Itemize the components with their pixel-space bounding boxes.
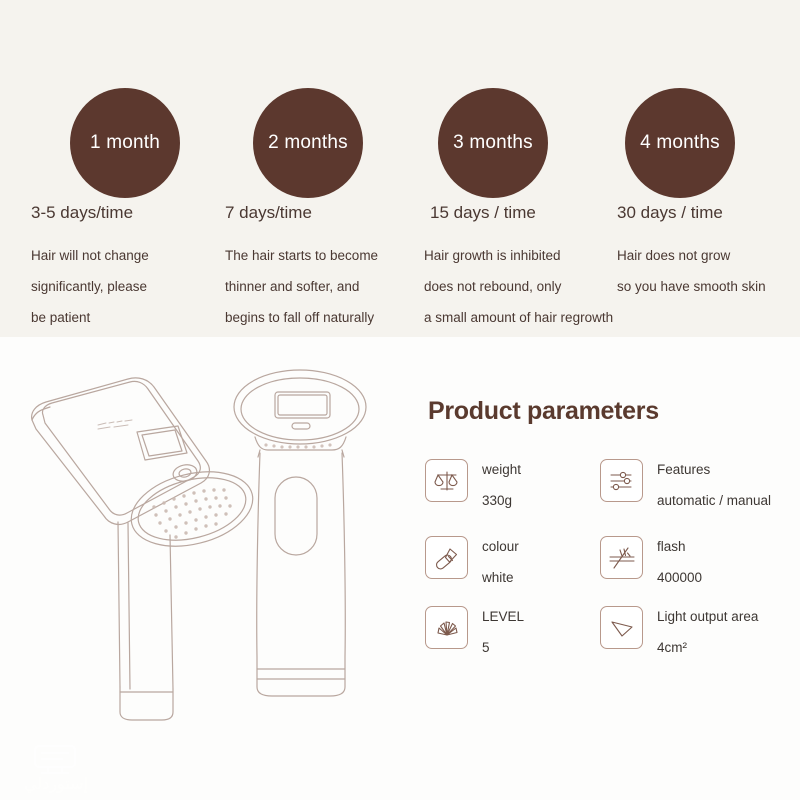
timeline-desc-line: begins to fall off naturally — [225, 302, 378, 333]
ipl-device-front-view — [234, 370, 366, 696]
parameter-label: LEVEL — [482, 607, 524, 626]
parameter-flash: flash 400000 — [600, 536, 702, 587]
parameter-value: 400000 — [657, 568, 702, 587]
balance-scale-icon — [425, 459, 468, 502]
paint-roller-icon — [425, 536, 468, 579]
parameter-value: 5 — [482, 638, 524, 657]
parameter-label: weight — [482, 460, 521, 479]
infographic-page: 1 month 3-5 days/time Hair will not chan… — [0, 0, 800, 800]
timeline-badge-label: 2 months — [268, 132, 348, 154]
parameter-light-output-area: Light output area 4cm² — [600, 606, 758, 657]
timeline-desc-line: thinner and softer, and — [225, 271, 378, 302]
parameter-text: weight 330g — [482, 459, 521, 510]
timeline-desc-line: Hair will not change — [31, 240, 149, 271]
timeline-step-4: 4 months 30 days / time Hair does not gr… — [600, 0, 800, 337]
fan-level-icon — [425, 606, 468, 649]
timeline-desc-line: Hair does not grow — [617, 240, 766, 271]
product-parameters-title: Product parameters — [428, 397, 659, 426]
timeline-desc-line: Hair growth is inhibited — [424, 240, 613, 271]
parameter-value: automatic / manual — [657, 491, 771, 510]
timeline-frequency-3: 15 days / time — [430, 203, 536, 223]
timeline-badge-label: 4 months — [640, 132, 720, 154]
timeline-columns: 1 month 3-5 days/time Hair will not chan… — [0, 0, 800, 337]
timeline-desc-line: significantly, please — [31, 271, 149, 302]
treatment-timeline-section: 1 month 3-5 days/time Hair will not chan… — [0, 0, 800, 337]
timeline-description-3: Hair growth is inhibited does not reboun… — [424, 240, 613, 333]
parameter-colour: colour white — [425, 536, 519, 587]
timeline-description-4: Hair does not grow so you have smooth sk… — [617, 240, 766, 302]
timeline-desc-line: so you have smooth skin — [617, 271, 766, 302]
parameter-text: Light output area 4cm² — [657, 606, 758, 657]
parameter-value: 330g — [482, 491, 521, 510]
timeline-step-3: 3 months 15 days / time Hair growth is i… — [400, 0, 605, 337]
parameter-label: flash — [657, 537, 702, 556]
product-illustration-group — [10, 357, 410, 777]
parameter-text: Features automatic / manual — [657, 459, 771, 510]
light-cone-icon — [600, 606, 643, 649]
parameter-label: colour — [482, 537, 519, 556]
timeline-desc-line: does not rebound, only — [424, 271, 613, 302]
site-watermark: إستوردلي — [8, 742, 104, 794]
timeline-desc-line: The hair starts to become — [225, 240, 378, 271]
timeline-badge-4-months: 4 months — [625, 88, 735, 198]
sliders-icon — [600, 459, 643, 502]
watermark-text: إستوردلي — [24, 774, 88, 794]
parameter-features: Features automatic / manual — [600, 459, 771, 510]
parameter-text: flash 400000 — [657, 536, 702, 587]
ipl-device-angled-view — [32, 378, 261, 720]
timeline-desc-line: a small amount of hair regrowth — [424, 302, 613, 333]
timeline-step-1: 1 month 3-5 days/time Hair will not chan… — [12, 0, 207, 337]
timeline-description-2: The hair starts to become thinner and so… — [225, 240, 378, 333]
timeline-badge-1-month: 1 month — [70, 88, 180, 198]
parameter-value: white — [482, 568, 519, 587]
parameter-label: Features — [657, 460, 771, 479]
timeline-frequency-2: 7 days/time — [225, 203, 312, 223]
parameter-level: LEVEL 5 — [425, 606, 524, 657]
product-detail-section: Product parameters weight — [0, 337, 800, 800]
parameter-text: LEVEL 5 — [482, 606, 524, 657]
timeline-badge-3-months: 3 months — [438, 88, 548, 198]
timeline-description-1: Hair will not change significantly, plea… — [31, 240, 149, 333]
timeline-badge-label: 3 months — [453, 132, 533, 154]
timeline-step-2: 2 months 7 days/time The hair starts to … — [205, 0, 400, 337]
timeline-badge-2-months: 2 months — [253, 88, 363, 198]
timeline-desc-line: be patient — [31, 302, 149, 333]
parameter-label: Light output area — [657, 607, 758, 626]
parameter-weight: weight 330g — [425, 459, 521, 510]
parameter-value: 4cm² — [657, 638, 758, 657]
timeline-frequency-1: 3-5 days/time — [31, 203, 133, 223]
timeline-badge-label: 1 month — [90, 132, 160, 154]
timeline-frequency-4: 30 days / time — [617, 203, 723, 223]
flash-rays-icon — [600, 536, 643, 579]
parameter-text: colour white — [482, 536, 519, 587]
